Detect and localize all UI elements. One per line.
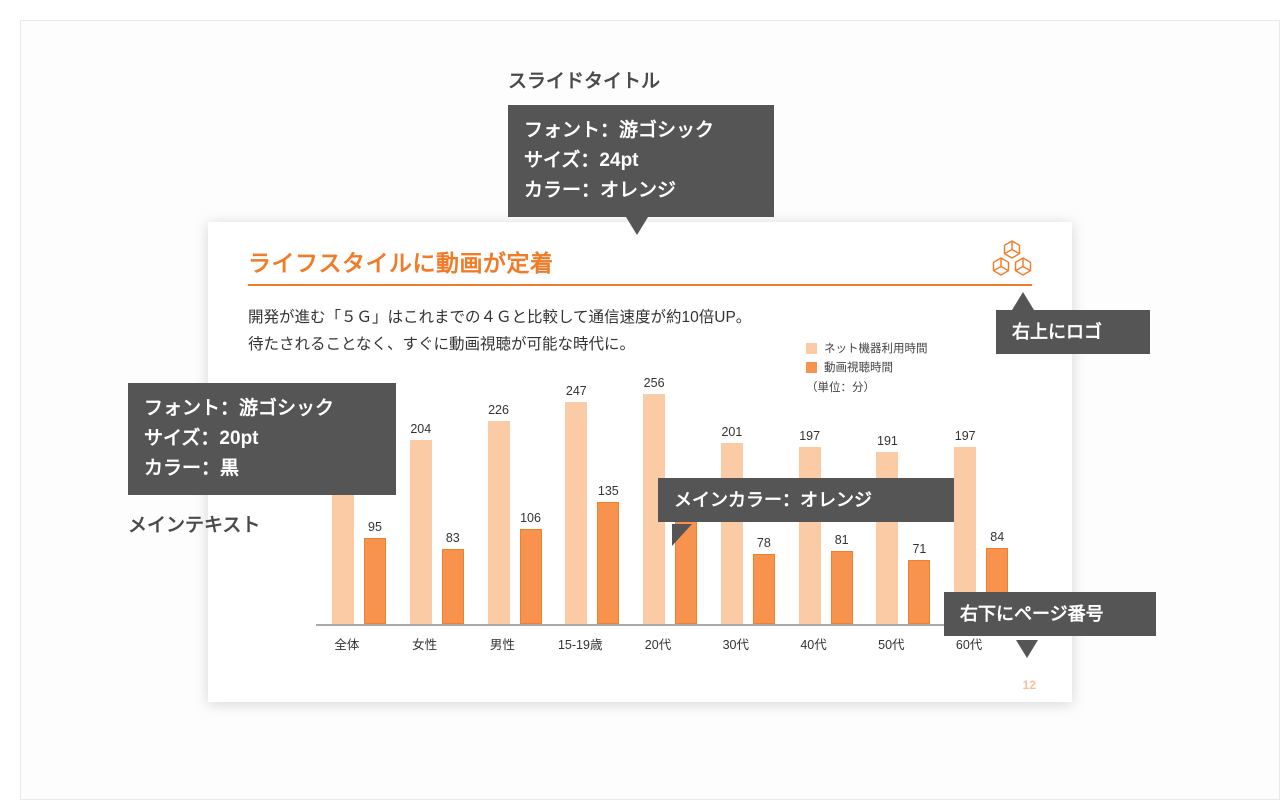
three-cubes-logo bbox=[990, 238, 1034, 282]
category-label: 女性 bbox=[380, 634, 470, 653]
bar-value-label: 135 bbox=[586, 484, 630, 498]
category-label: 60代 bbox=[924, 634, 1014, 653]
annotation-page-number-pointer bbox=[1016, 640, 1038, 658]
legend-item-0: ネット機器利用時間 bbox=[806, 340, 928, 356]
annotation-color-callout: メインカラー：オレンジ bbox=[658, 478, 954, 522]
bar-value-label: 197 bbox=[788, 429, 832, 443]
body-line-1: 開発が進む「５Ｇ」はこれまでの４Ｇと比較して通信速度が約10倍UP。 bbox=[248, 304, 751, 331]
category-label: 男性 bbox=[457, 634, 547, 653]
bar-value-label: 256 bbox=[632, 376, 676, 390]
annotation-color-pointer bbox=[672, 524, 692, 546]
annotation-page-number-callout: 右下にページ番号 bbox=[944, 592, 1156, 636]
bar-group: 19784 bbox=[948, 372, 1026, 624]
bar-group: 226106 bbox=[482, 372, 560, 624]
bar-value-label: 197 bbox=[943, 429, 987, 443]
chart-baseline-axis bbox=[316, 624, 1016, 626]
bar-value-label: 191 bbox=[865, 434, 909, 448]
annotation-main-text-callout: フォント：游ゴシック サイズ：20pt カラー：黒 bbox=[128, 383, 396, 495]
legend-swatch-icon bbox=[806, 343, 817, 354]
bar-net-usage bbox=[799, 447, 821, 624]
annotation-slide-title-label: スライドタイトル bbox=[508, 66, 660, 93]
bar-value-label: 247 bbox=[554, 384, 598, 398]
title-underline bbox=[248, 284, 1032, 286]
bar-video-view bbox=[442, 549, 464, 624]
bar-net-usage bbox=[488, 421, 510, 624]
bar-value-label: 201 bbox=[710, 425, 754, 439]
bar-video-view bbox=[364, 538, 386, 624]
annotation-logo-callout: 右上にロゴ bbox=[996, 310, 1150, 354]
bar-net-usage bbox=[410, 440, 432, 624]
category-label: 20代 bbox=[613, 634, 703, 653]
bar-value-label: 78 bbox=[742, 536, 786, 550]
bar-video-view bbox=[753, 554, 775, 624]
category-label: 50代 bbox=[846, 634, 936, 653]
bar-value-label: 226 bbox=[477, 403, 521, 417]
category-label: 30代 bbox=[691, 634, 781, 653]
bar-video-view bbox=[831, 551, 853, 624]
annotation-title-pointer bbox=[626, 217, 648, 235]
bar-video-view bbox=[520, 529, 542, 624]
legend-swatch-icon bbox=[806, 362, 817, 373]
annotation-logo-pointer bbox=[1012, 292, 1034, 310]
category-label: 40代 bbox=[769, 634, 859, 653]
body-line-2: 待たされることなく、すぐに動画視聴が可能な時代に。 bbox=[248, 331, 751, 358]
slide-body-text: 開発が進む「５Ｇ」はこれまでの４Ｇと比較して通信速度が約10倍UP。 待たされる… bbox=[248, 304, 751, 358]
annotation-main-text-label: メインテキスト bbox=[128, 510, 260, 537]
bar-group: 247135 bbox=[559, 372, 637, 624]
bar-value-label: 84 bbox=[975, 530, 1019, 544]
bar-net-usage bbox=[565, 402, 587, 624]
legend-label: ネット機器利用時間 bbox=[824, 340, 928, 356]
slide-title: ライフスタイルに動画が定着 bbox=[248, 244, 554, 278]
bar-value-label: 204 bbox=[399, 422, 443, 436]
bar-value-label: 71 bbox=[897, 542, 941, 556]
bar-value-label: 106 bbox=[509, 511, 553, 525]
bar-value-label: 83 bbox=[431, 531, 475, 545]
bar-video-view bbox=[908, 560, 930, 624]
bar-value-label: 81 bbox=[820, 533, 864, 547]
category-label: 全体 bbox=[302, 634, 392, 653]
annotation-title-callout: フォント：游ゴシック サイズ：24pt カラー：オレンジ bbox=[508, 105, 774, 217]
bar-video-view bbox=[597, 502, 619, 624]
category-label: 15-19歳 bbox=[535, 634, 625, 653]
bar-value-label: 95 bbox=[353, 520, 397, 534]
bar-net-usage bbox=[721, 443, 743, 624]
bar-group: 20483 bbox=[404, 372, 482, 624]
